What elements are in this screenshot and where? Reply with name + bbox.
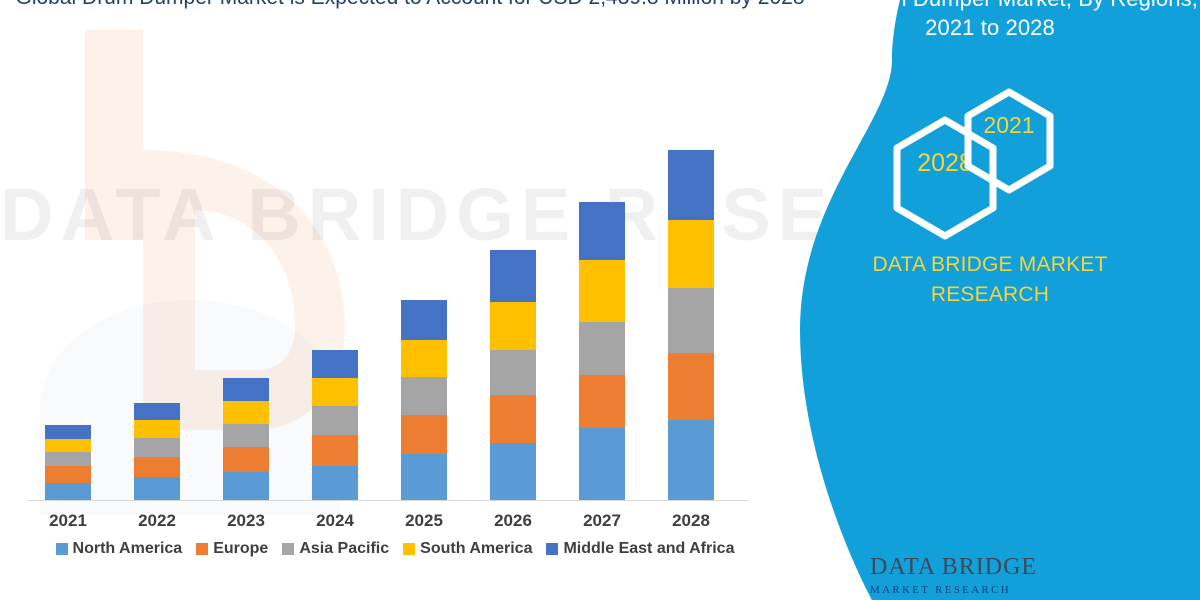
x-axis-tick-2028: 2028 — [646, 511, 736, 531]
bar-segment[interactable] — [668, 353, 714, 420]
bar-segment[interactable] — [401, 300, 447, 340]
bar-segment[interactable] — [490, 250, 536, 302]
brand-line-2: RESEARCH — [780, 280, 1200, 310]
bar-segment[interactable] — [668, 420, 714, 500]
bar-segment[interactable] — [312, 406, 358, 435]
bar-2024[interactable] — [312, 350, 358, 500]
x-axis-tick-2026: 2026 — [468, 511, 558, 531]
bar-segment[interactable] — [134, 420, 180, 438]
bar-2027[interactable] — [579, 202, 625, 500]
bar-segment[interactable] — [490, 443, 536, 500]
logo-tagline: MARKET RESEARCH — [870, 584, 1011, 596]
bar-segment[interactable] — [45, 466, 91, 483]
logo-name: DATA BRIDGE — [870, 554, 1037, 581]
legend-item[interactable]: North America — [56, 540, 183, 558]
data-bridge-logo: DATA BRIDGE MARKET RESEARCH — [800, 542, 1060, 600]
bar-segment[interactable] — [401, 377, 447, 415]
legend-item[interactable]: Middle East and Africa — [546, 540, 734, 558]
bar-segment[interactable] — [45, 425, 91, 439]
bar-segment[interactable] — [134, 438, 180, 457]
bar-segment[interactable] — [401, 340, 447, 377]
x-axis-tick-2021: 2021 — [23, 511, 113, 531]
bar-segment[interactable] — [134, 403, 180, 420]
bar-segment[interactable] — [579, 260, 625, 322]
bar-segment[interactable] — [579, 375, 625, 428]
legend-item[interactable]: Asia Pacific — [282, 540, 389, 558]
legend-item[interactable]: South America — [403, 540, 532, 558]
chart-legend: North AmericaEuropeAsia PacificSouth Ame… — [0, 540, 790, 558]
bar-segment[interactable] — [223, 378, 269, 401]
bar-2021[interactable] — [45, 425, 91, 500]
bar-segment[interactable] — [312, 350, 358, 378]
x-axis-tick-2027: 2027 — [557, 511, 647, 531]
bar-segment[interactable] — [312, 378, 358, 406]
legend-label: South America — [420, 540, 532, 558]
bar-segment[interactable] — [45, 439, 91, 452]
legend-label: North America — [73, 540, 183, 558]
bar-2023[interactable] — [223, 378, 269, 500]
bar-2028[interactable] — [668, 150, 714, 500]
x-axis-tick-2023: 2023 — [201, 511, 291, 531]
legend-swatch — [56, 543, 68, 555]
legend-swatch — [196, 543, 208, 555]
hexagon-group: 2028 2021 — [780, 86, 1200, 216]
x-axis-tick-2025: 2025 — [379, 511, 469, 531]
bar-segment[interactable] — [223, 472, 269, 500]
bar-segment[interactable] — [579, 202, 625, 260]
hexagon-2021: 2021 — [962, 88, 1056, 194]
bar-segment[interactable] — [312, 435, 358, 466]
x-axis-line — [28, 500, 748, 501]
bar-segment[interactable] — [401, 454, 447, 500]
brand-line-1: DATA BRIDGE MARKET — [780, 250, 1200, 280]
hexagon-2021-label: 2021 — [962, 112, 1056, 139]
legend-swatch — [282, 543, 294, 555]
branding-panel: Global Drum Dumper Market, By Regions, 2… — [780, 0, 1200, 600]
bar-segment[interactable] — [45, 452, 91, 466]
bar-segment[interactable] — [45, 483, 91, 500]
bar-2022[interactable] — [134, 403, 180, 500]
bar-segment[interactable] — [490, 350, 536, 395]
chart-panel: DATA BRIDGE RESEARCH Global Drum Dumper … — [0, 0, 830, 600]
x-axis-tick-2024: 2024 — [290, 511, 380, 531]
bar-2026[interactable] — [490, 250, 536, 500]
legend-label: Middle East and Africa — [563, 540, 734, 558]
chart-subject-title: Global Drum Dumper Market, By Regions, 2… — [780, 0, 1200, 42]
stacked-bar-chart: 20212022202320242025202620272028 — [0, 0, 830, 600]
bar-segment[interactable] — [134, 477, 180, 500]
legend-swatch — [546, 543, 558, 555]
bar-segment[interactable] — [490, 395, 536, 443]
bar-segment[interactable] — [579, 322, 625, 375]
bar-segment[interactable] — [223, 447, 269, 472]
bar-segment[interactable] — [579, 428, 625, 500]
x-axis-tick-2022: 2022 — [112, 511, 202, 531]
bar-segment[interactable] — [490, 302, 536, 350]
legend-item[interactable]: Europe — [196, 540, 268, 558]
bar-segment[interactable] — [668, 220, 714, 288]
bar-segment[interactable] — [401, 415, 447, 454]
bar-segment[interactable] — [134, 457, 180, 477]
brand-name: DATA BRIDGE MARKET RESEARCH — [780, 250, 1200, 310]
bar-segment[interactable] — [223, 401, 269, 424]
bar-segment[interactable] — [312, 466, 358, 500]
bar-segment[interactable] — [223, 424, 269, 447]
legend-swatch — [403, 543, 415, 555]
bar-segment[interactable] — [668, 288, 714, 353]
legend-label: Asia Pacific — [299, 540, 389, 558]
legend-label: Europe — [213, 540, 268, 558]
bar-segment[interactable] — [668, 150, 714, 220]
bar-2025[interactable] — [401, 300, 447, 500]
